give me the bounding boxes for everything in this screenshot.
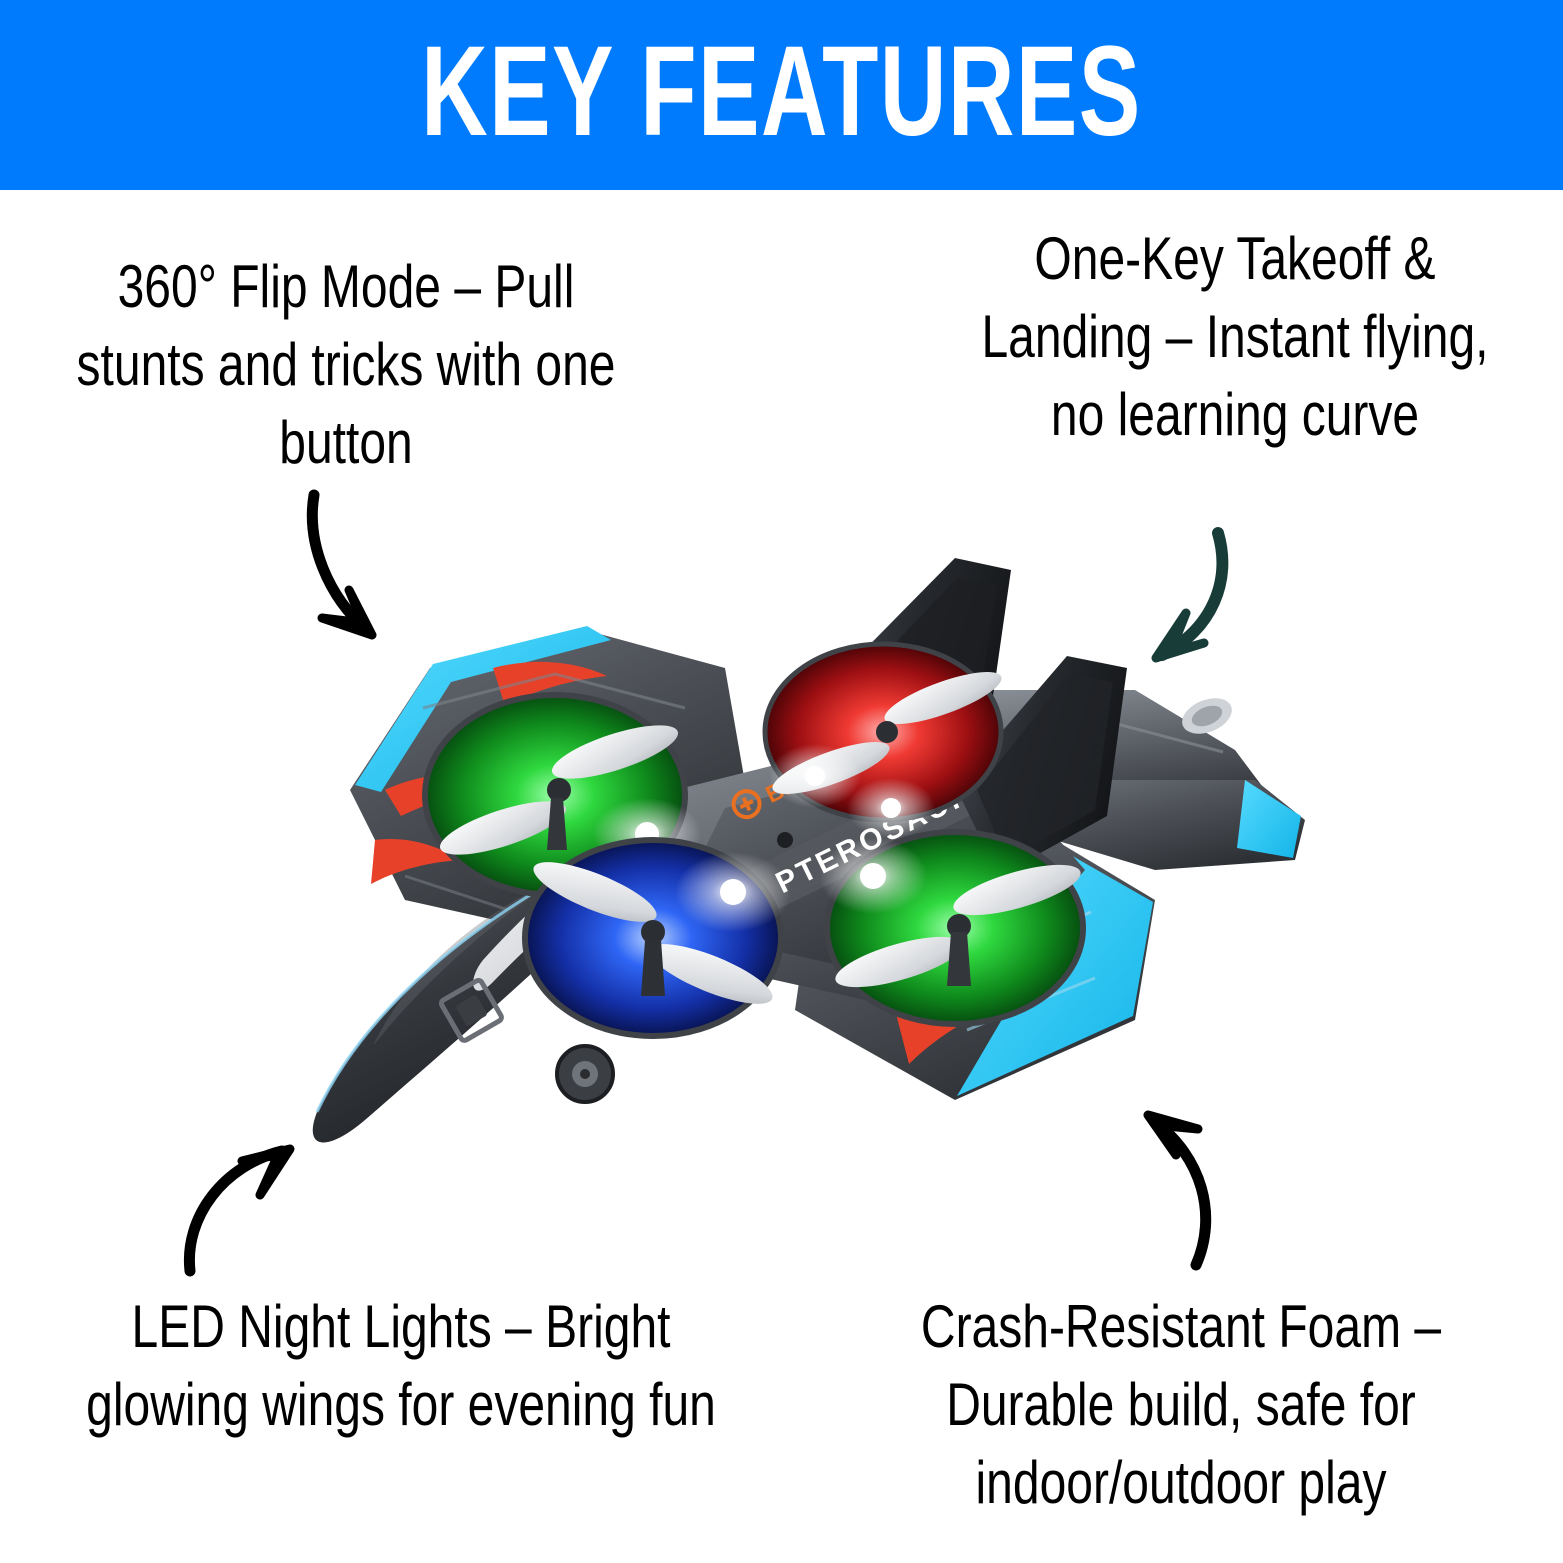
rotor-rear-right	[819, 832, 1085, 1024]
rotor-rear-left	[525, 840, 791, 1036]
feature-caption-crash-foam: Crash-Resistant Foam – Durable build, sa…	[881, 1288, 1481, 1522]
feature-caption-takeoff-landing: One-Key Takeoff & Landing – Instant flyi…	[979, 220, 1491, 454]
landing-wheel	[557, 1046, 613, 1102]
header-banner: KEY FEATURES	[0, 0, 1563, 190]
page-title: KEY FEATURES	[421, 28, 1142, 156]
product-image-rc-jet-drone: PTEROSAURIA BEN	[255, 540, 1315, 1180]
feature-caption-led-lights: LED Night Lights – Bright glowing wings …	[85, 1288, 717, 1444]
feature-caption-flip-mode: 360° Flip Mode – Pull stunts and tricks …	[74, 248, 618, 482]
infographic-page: KEY FEATURES 360° Flip Mode – Pull stunt…	[0, 0, 1563, 1563]
